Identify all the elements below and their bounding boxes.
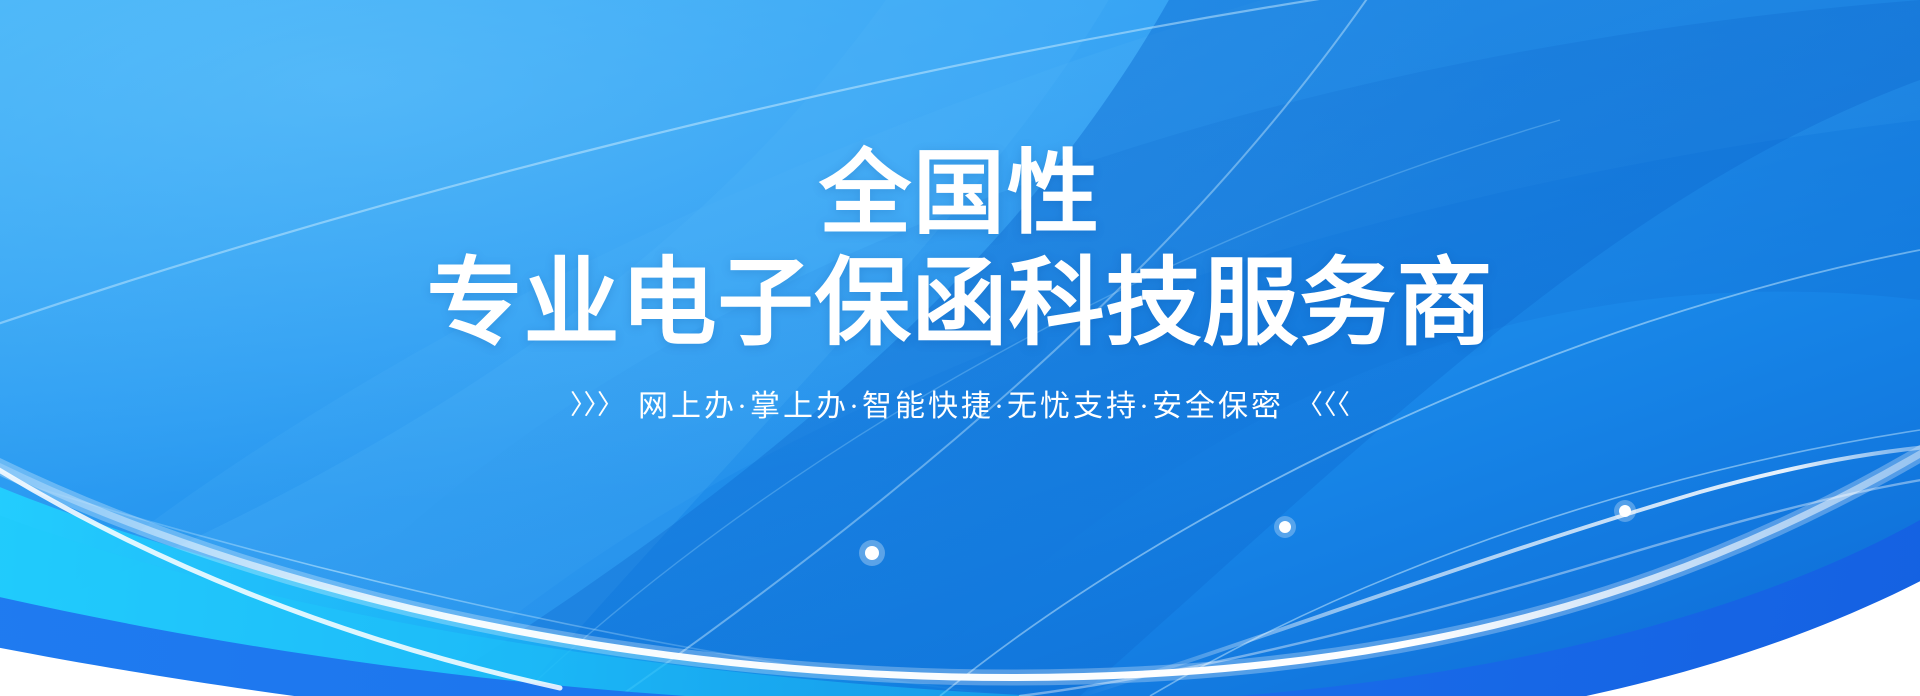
hero-banner: 全国性 专业电子保函科技服务商 〉〉〉 网上办·掌上办·智能快捷·无忧支持·安全… [0, 0, 1920, 696]
background-artwork [0, 0, 1920, 696]
curve-dot-right-upper-halo [1614, 500, 1636, 522]
curve-dot-right-lower-halo [1274, 516, 1296, 538]
curve-dot-center-halo [859, 540, 885, 566]
